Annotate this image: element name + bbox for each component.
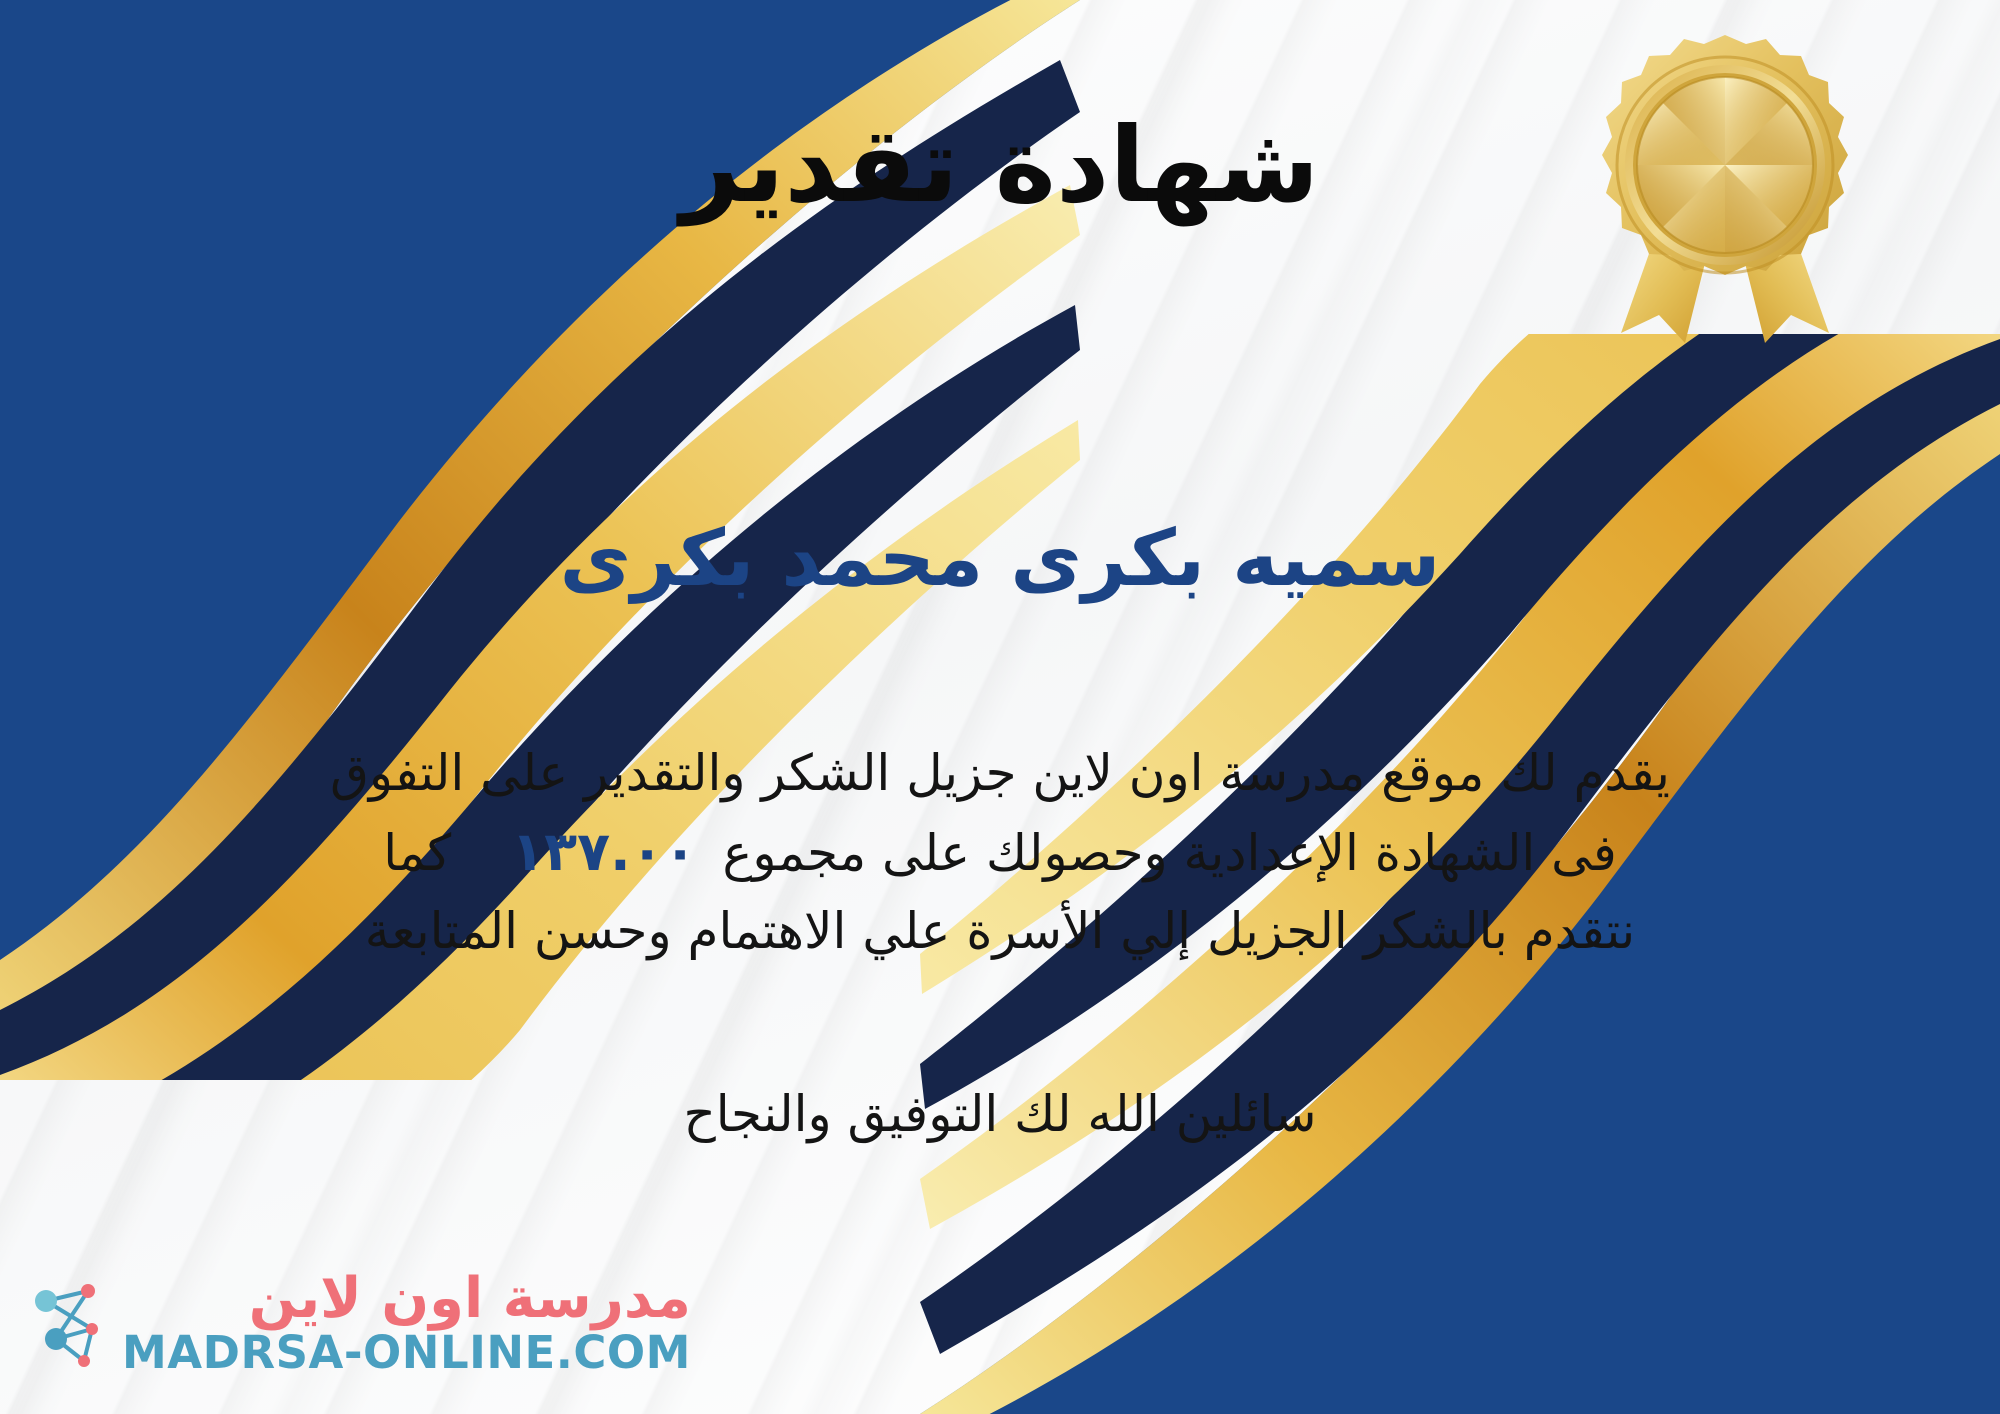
certificate-body: يقدم لك موقع مدرسة اون لاين جزيل الشكر و…: [60, 735, 1940, 969]
body-line-3: نتقدم بالشكر الجزيل إلي الأسرة علي الاهت…: [60, 893, 1940, 969]
body-line-2: فى الشهادة الإعدادية وحصولك على مجموع١٣٧…: [60, 811, 1940, 893]
grade-total-value: ١٣٧.٠٠: [485, 811, 722, 893]
network-nodes-icon: [26, 1277, 112, 1369]
brand-logo[interactable]: مدرسة اون لاين MADRSA-ONLINE.COM: [26, 1270, 691, 1376]
certificate-canvas: شهادة تقدير سميه بكرى محمد بكرى يقدم لك …: [0, 0, 2000, 1414]
brand-website[interactable]: MADRSA-ONLINE.COM: [122, 1329, 691, 1376]
brand-text: مدرسة اون لاين MADRSA-ONLINE.COM: [122, 1270, 691, 1376]
certificate-content: شهادة تقدير سميه بكرى محمد بكرى يقدم لك …: [0, 0, 2000, 1414]
recipient-name: سميه بكرى محمد بكرى: [0, 515, 2000, 605]
closing-line: سائلين الله لك التوفيق والنجاح: [0, 1085, 2000, 1143]
body-line-2-prefix: فى الشهادة الإعدادية وحصولك على مجموع: [723, 824, 1617, 882]
brand-arabic-name: مدرسة اون لاين: [122, 1270, 691, 1329]
body-line-2-suffix: كما: [383, 824, 451, 882]
body-line-1: يقدم لك موقع مدرسة اون لاين جزيل الشكر و…: [60, 735, 1940, 811]
page-title: شهادة تقدير: [0, 108, 2000, 222]
